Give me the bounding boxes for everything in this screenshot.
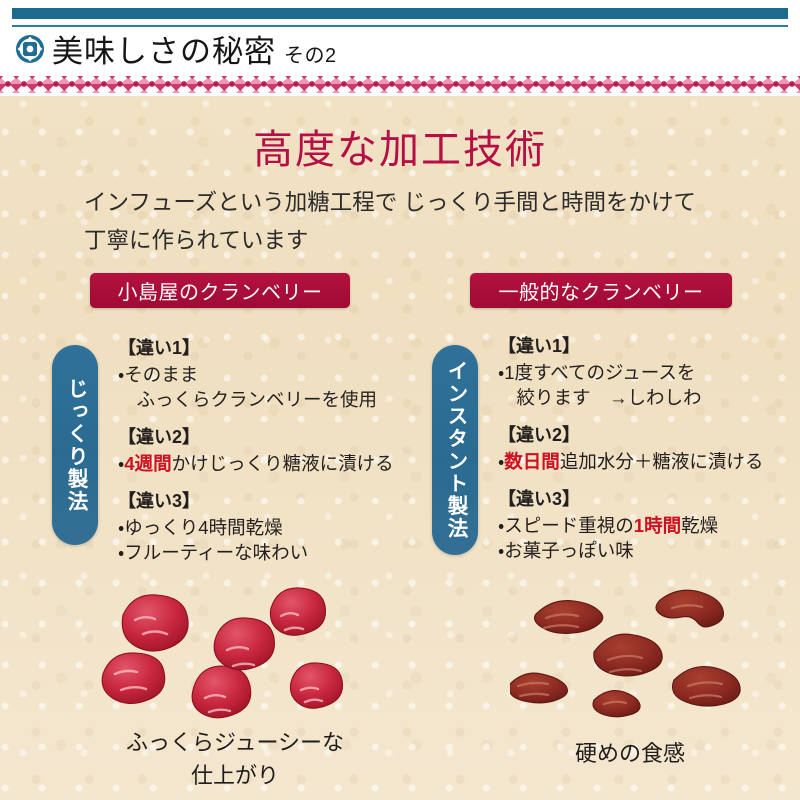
difference-line: ・1度すべてのジュースを <box>498 360 798 385</box>
flower-emblem-icon <box>14 33 46 65</box>
text-segment: ・お菓子っぽい味 <box>498 540 634 561</box>
difference-line: ・4週間かけじっくり糖液に漬ける <box>118 451 408 476</box>
difference-heading: 【違い3】 <box>498 487 798 511</box>
caption-line: 硬めの食感 <box>480 737 780 770</box>
text-segment: ・スピード重視の <box>498 515 634 536</box>
caption-kojimaya: ふっくらジューシーな仕上がり <box>70 726 400 792</box>
page-title: 高度な加工技術 <box>0 117 800 175</box>
difference-group: 【違い1】・そのまま ふっくらクランベリーを使用 <box>118 336 408 412</box>
difference-group: 【違い1】・1度すべてのジュースを 絞ります →しわしわ <box>498 334 798 410</box>
difference-group: 【違い2】・数日間追加水分＋糖液に漬ける <box>498 423 798 474</box>
highlighted-term: 4週間 <box>124 453 171 474</box>
difference-heading: 【違い2】 <box>118 425 408 449</box>
lead-line-1: インフューズという加糖工程で じっくり手間と時間をかけて <box>84 184 744 222</box>
highlighted-term: 数日間 <box>504 451 560 472</box>
method-tab-slow: じっくり製法 <box>52 345 98 545</box>
text-segment: ・フルーティーな味わい <box>118 542 308 563</box>
difference-list-generic: 【違い1】・1度すべてのジュースを 絞ります →しわしわ【違い2】・数日間追加水… <box>498 334 798 563</box>
text-segment: 絞ります →しわしわ <box>498 387 702 408</box>
decorative-pattern-ribbon <box>0 72 800 96</box>
difference-heading: 【違い1】 <box>118 336 408 360</box>
banner-kojimaya: 小島屋のクランベリー <box>90 273 350 308</box>
difference-line: ・数日間追加水分＋糖液に漬ける <box>498 449 798 474</box>
difference-group: 【違い3】・スピード重視の1時間乾燥・お菓子っぽい味 <box>498 487 798 563</box>
banner-generic: 一般的なクランベリー <box>470 273 732 308</box>
difference-list-kojimaya: 【違い1】・そのまま ふっくらクランベリーを使用【違い2】・4週間かけじっくり糖… <box>118 336 408 565</box>
ribbon-top-edge <box>0 72 800 76</box>
text-segment: ・そのまま <box>118 364 198 385</box>
ribbon-bottom-edge <box>0 93 800 96</box>
difference-line: ・スピード重視の1時間乾燥 <box>498 513 798 538</box>
difference-group: 【違い3】・ゆっくり4時間乾燥・フルーティーな味わい <box>118 489 408 565</box>
difference-heading: 【違い1】 <box>498 334 798 358</box>
difference-line: 絞ります →しわしわ <box>498 385 798 410</box>
header-title-main: 美味しさの秘密 <box>52 26 276 71</box>
method-tab-instant: インスタント製法 <box>432 345 478 555</box>
difference-group: 【違い2】・4週間かけじっくり糖液に漬ける <box>118 425 408 476</box>
text-segment: かけじっくり糖液に漬ける <box>172 453 394 474</box>
difference-line: ・お菓子っぽい味 <box>498 538 798 563</box>
berry-illustration-plump <box>95 570 345 730</box>
page-header: 美味しさの秘密 その2 <box>0 0 800 72</box>
difference-line: ・ゆっくり4時間乾燥 <box>118 515 408 540</box>
caption-line: 仕上がり <box>70 759 400 792</box>
text-segment: ふっくらクランベリーを使用 <box>118 389 377 410</box>
highlighted-term: 1時間 <box>634 515 681 536</box>
text-segment: ・1度すべてのジュースを <box>498 362 695 383</box>
caption-line: ふっくらジューシーな <box>70 726 400 759</box>
text-segment: 乾燥 <box>681 515 718 536</box>
difference-heading: 【違い2】 <box>498 423 798 447</box>
berry-illustration-shriveled <box>510 572 760 727</box>
difference-heading: 【違い3】 <box>118 489 408 513</box>
caption-generic: 硬めの食感 <box>480 737 780 770</box>
header-title: 美味しさの秘密 その2 <box>52 26 337 68</box>
text-segment: 追加水分＋糖液に漬ける <box>560 451 764 472</box>
difference-line: ふっくらクランベリーを使用 <box>118 387 408 412</box>
text-segment: ・ゆっくり4時間乾燥 <box>118 517 283 538</box>
difference-line: ・フルーティーな味わい <box>118 540 408 565</box>
header-top-bar <box>12 8 788 19</box>
infographic-page: 美味しさの秘密 その2 高度な加工技術 インフューズという加糖工程で じっくり手… <box>0 0 800 800</box>
header-title-sub: その2 <box>284 39 337 68</box>
difference-line: ・そのまま <box>118 362 408 387</box>
lead-paragraph: インフューズという加糖工程で じっくり手間と時間をかけて 丁寧に作られています <box>84 184 744 260</box>
lead-line-2: 丁寧に作られています <box>84 222 744 260</box>
